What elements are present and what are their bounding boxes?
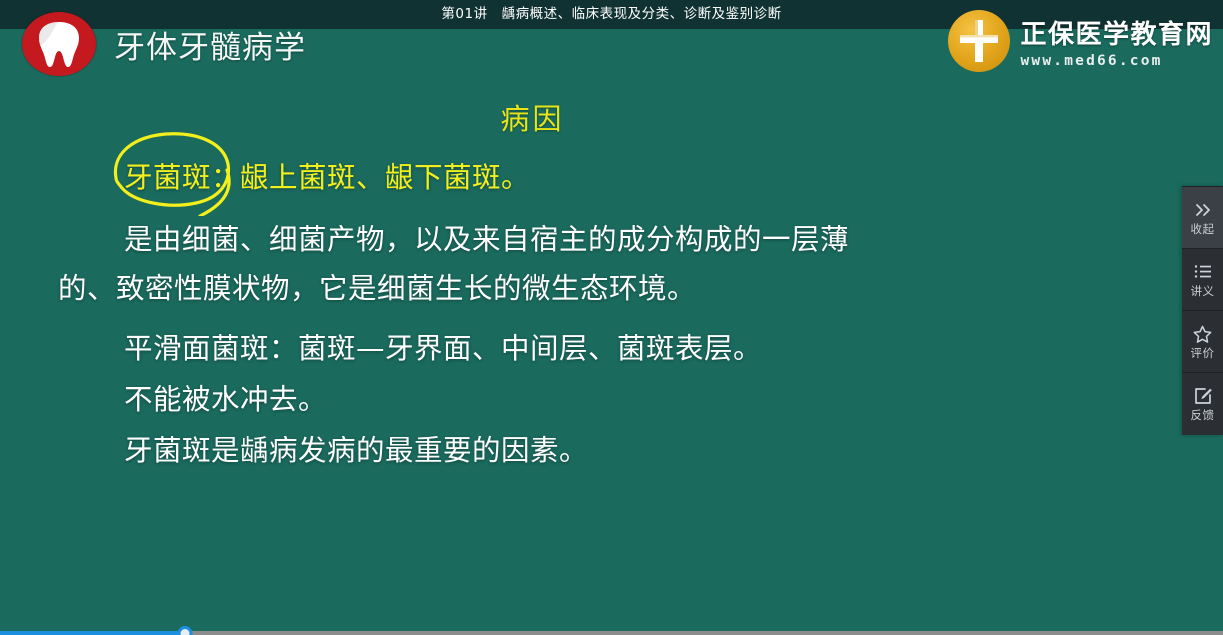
rail-item-handout[interactable]: 讲义 xyxy=(1182,249,1223,311)
progress-bar-track[interactable] xyxy=(0,631,1223,635)
rail-label-collapse: 收起 xyxy=(1191,223,1215,236)
slide-line-keypoint: 牙菌斑：龈上菌斑、龈下菌斑。 xyxy=(0,152,1175,203)
rail-label-rating: 评价 xyxy=(1191,347,1215,360)
rail-label-handout: 讲义 xyxy=(1191,285,1215,298)
site-url: www.med66.com xyxy=(1020,53,1213,69)
list-lines-icon xyxy=(1194,262,1212,282)
slide-line-paragraph-1: 是由细菌、细菌产物，以及来自宿主的成分构成的一层薄 xyxy=(0,214,1175,265)
tooth-icon xyxy=(22,12,96,76)
rail-item-rating[interactable]: 评价 xyxy=(1182,311,1223,373)
brand-text-block: 正保医学教育网 www.med66.com xyxy=(1020,14,1213,69)
site-name: 正保医学教育网 xyxy=(1020,14,1213,51)
keypoint-term: 牙菌斑： xyxy=(124,161,240,194)
brand-lockup-right: 正保医学教育网 www.med66.com xyxy=(948,10,1213,72)
tool-rail: 收起 讲义 评价 xyxy=(1182,186,1223,435)
slide-canvas: 第01讲 龋病概述、临床表现及分类、诊断及鉴别诊断 牙体牙髓病学 xyxy=(0,0,1223,635)
medical-cross-icon xyxy=(948,10,1010,72)
double-chevron-right-icon xyxy=(1194,200,1212,220)
keypoint-rest: 龈上菌斑、龈下菌斑。 xyxy=(240,161,530,194)
slide-line-not-washed-away: 不能被水冲去。 xyxy=(0,374,1175,425)
progress-bar-handle[interactable] xyxy=(178,626,193,635)
slide-line-most-important-factor: 牙菌斑是龋病发病的最重要的因素。 xyxy=(0,425,1175,476)
video-player: 第01讲 龋病概述、临床表现及分类、诊断及鉴别诊断 牙体牙髓病学 xyxy=(0,0,1223,635)
rail-item-collapse[interactable]: 收起 xyxy=(1182,187,1223,249)
slide-line-smooth-surface-plaque: 平滑面菌斑：菌斑—牙界面、中间层、菌斑表层。 xyxy=(0,323,1175,374)
rail-item-feedback[interactable]: 反馈 xyxy=(1182,373,1223,435)
slide-heading: 病因 xyxy=(0,96,1175,138)
progress-bar-filled xyxy=(0,631,185,635)
rail-label-feedback: 反馈 xyxy=(1191,409,1215,422)
course-title: 牙体牙髓病学 xyxy=(114,22,306,67)
star-icon xyxy=(1193,324,1212,344)
slide-line-paragraph-2: 的、致密性膜状物，它是细菌生长的微生态环境。 xyxy=(0,263,1175,314)
slide-content: 病因 牙菌斑：龈上菌斑、龈下菌斑。 是由细菌、细菌产物，以及来自宿主的成分构成的… xyxy=(0,96,1175,476)
edit-pencil-icon xyxy=(1194,386,1212,406)
brand-lockup-left: 牙体牙髓病学 xyxy=(22,12,306,76)
